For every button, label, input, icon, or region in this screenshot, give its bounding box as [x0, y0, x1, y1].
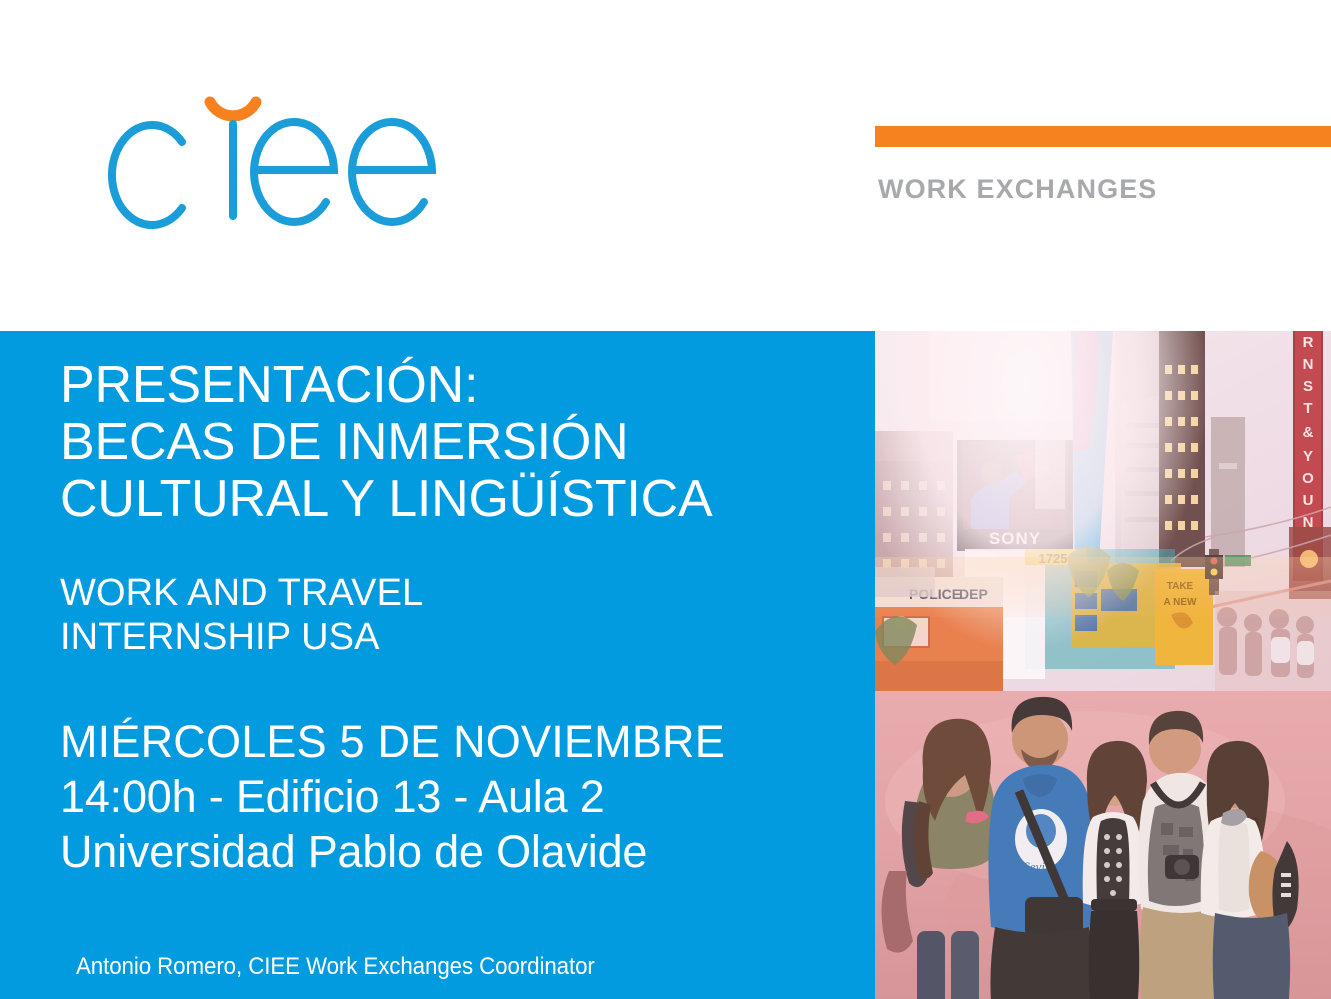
- orange-smile-accent-icon: [210, 102, 256, 116]
- event-title: PRESENTACIÓN: BECAS DE INMERSIÓN CULTURA…: [60, 357, 860, 529]
- event-venue: Universidad Pablo de Olavide: [60, 825, 860, 880]
- header-brand-label: WORK EXCHANGES: [878, 176, 1157, 203]
- event-title-line-1: PRESENTACIÓN:: [60, 357, 860, 414]
- presenter-credit: Antonio Romero, CIEE Work Exchanges Coor…: [76, 955, 595, 979]
- event-date: MIÉRCOLES 5 DE NOVIEMBRE: [60, 715, 860, 770]
- program-subtitle: WORK AND TRAVEL INTERNSHIP USA: [60, 571, 860, 659]
- text-stack: PRESENTACIÓN: BECAS DE INMERSIÓN CULTURA…: [60, 357, 860, 879]
- program-subtitle-line-1: WORK AND TRAVEL: [60, 571, 860, 615]
- event-title-line-3: CULTURAL Y LINGÜÍSTICA: [60, 471, 860, 528]
- event-time-location: 14:00h - Edificio 13 - Aula 2: [60, 770, 860, 825]
- poster-slide: WORK EXCHANGES PRESENTACIÓN: BECAS DE IN…: [0, 0, 1331, 999]
- event-details: MIÉRCOLES 5 DE NOVIEMBRE 14:00h - Edific…: [60, 715, 860, 880]
- program-subtitle-line-2: INTERNSHIP USA: [60, 615, 860, 659]
- content-panel: PRESENTACIÓN: BECAS DE INMERSIÓN CULTURA…: [0, 331, 880, 999]
- ciee-logo: [104, 84, 454, 239]
- event-title-line-2: BECAS DE INMERSIÓN: [60, 414, 860, 471]
- orange-rule: [875, 126, 1331, 147]
- times-square-photo: SONY: [875, 331, 1331, 999]
- header-band: WORK EXCHANGES: [0, 0, 1331, 331]
